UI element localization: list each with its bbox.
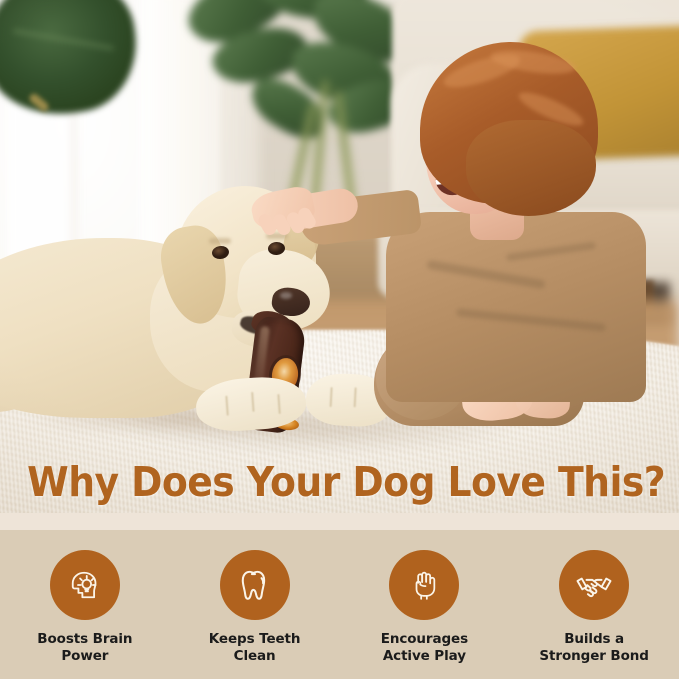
handshake-icon	[559, 550, 629, 620]
benefits-list: Boosts Brain Power Keeps Teeth Clean	[0, 530, 679, 679]
feature-builds-stronger-bond[interactable]: Builds a Stronger Bond	[509, 530, 679, 679]
feature-label-line2: Clean	[234, 648, 276, 664]
feature-encourages-active-play[interactable]: Encourages Active Play	[340, 530, 510, 679]
feature-label-line2: Power	[61, 648, 108, 664]
tooth-icon	[220, 550, 290, 620]
brain-head-lightbulb-icon	[50, 550, 120, 620]
feature-label-line1: Keeps Teeth	[209, 631, 301, 647]
feature-label-line1: Encourages	[381, 631, 468, 647]
hero-photo	[0, 0, 679, 513]
feature-label-line1: Boosts Brain	[37, 631, 132, 647]
feature-label: Builds a Stronger Bond	[539, 631, 648, 666]
dog-brow-left	[209, 238, 231, 244]
feature-label: Boosts Brain Power	[37, 631, 132, 666]
feature-boosts-brain-power[interactable]: Boosts Brain Power	[0, 530, 170, 679]
boy-shirt	[386, 212, 646, 402]
page-title: Why Does Your Dog Love This?	[27, 458, 652, 506]
feature-label-line1: Builds a	[564, 631, 624, 647]
feature-label: Keeps Teeth Clean	[209, 631, 301, 666]
feature-label-line2: Active Play	[383, 648, 466, 664]
raised-fist-icon	[389, 550, 459, 620]
section-divider	[0, 513, 679, 530]
feature-keeps-teeth-clean[interactable]: Keeps Teeth Clean	[170, 530, 340, 679]
dog-nose-highlight	[280, 292, 292, 299]
feature-label: Encourages Active Play	[381, 631, 468, 666]
feature-label-line2: Stronger Bond	[539, 648, 648, 664]
promo-banner: Why Does Your Dog Love This? Boosts Brai…	[0, 0, 679, 679]
